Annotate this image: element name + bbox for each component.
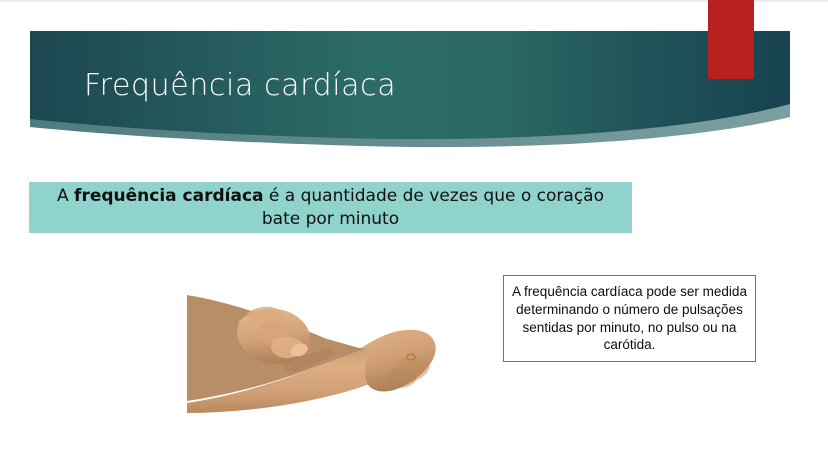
finger-ring: [407, 354, 415, 360]
page-title: Frequência cardíaca: [84, 69, 396, 102]
red-accent-tab: [708, 0, 754, 79]
definition-text: A frequência cardíaca é a quantidade de …: [39, 185, 622, 229]
measurement-note-box: A frequência cardíaca pode ser medida de…: [503, 275, 756, 362]
definition-highlight-box: A frequência cardíaca é a quantidade de …: [29, 182, 632, 233]
presentation-slide: Frequência cardíaca A frequência cardíac…: [0, 0, 828, 466]
definition-rest: é a quantidade de vezes que o coração ba…: [262, 186, 604, 228]
definition-lead: A: [57, 186, 74, 206]
definition-bold-term: frequência cardíaca: [74, 186, 263, 206]
wrist-pulse-illustration: [187, 287, 440, 417]
measurement-note-text: A frequência cardíaca pode ser medida de…: [510, 283, 749, 354]
wrist-pulse-photo: [187, 287, 440, 417]
